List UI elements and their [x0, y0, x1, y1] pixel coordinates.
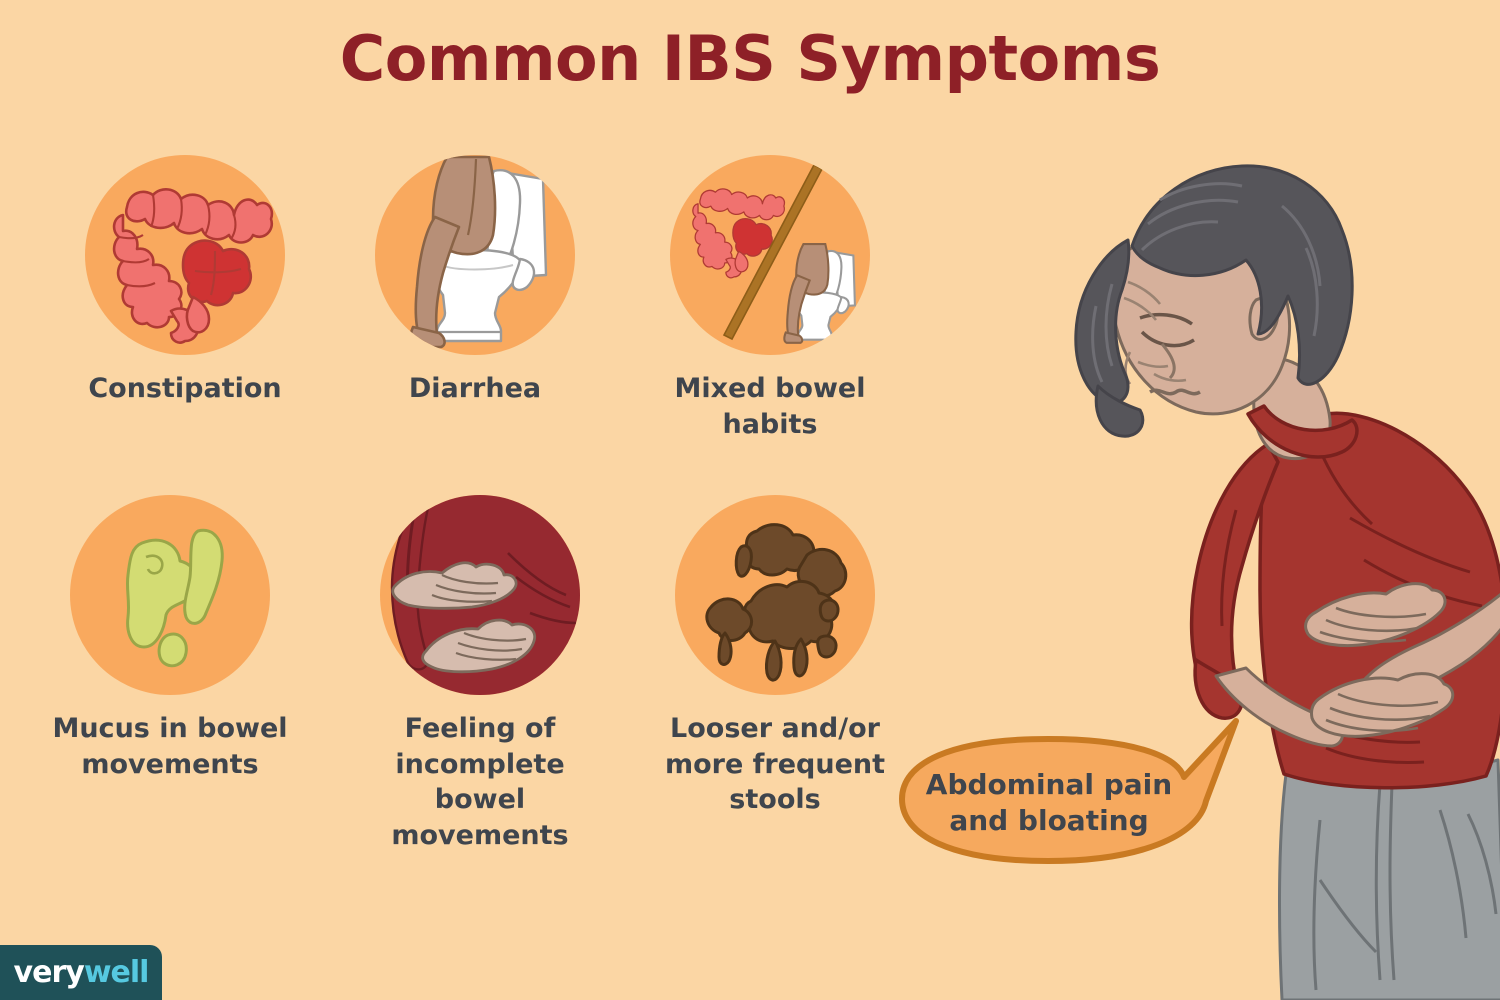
page-title: Common IBS Symptoms: [0, 22, 1500, 95]
symptom-icon-circle: [375, 155, 575, 355]
symptom-diarrhea: Diarrhea: [355, 155, 595, 407]
symptom-label: Diarrhea: [355, 371, 595, 407]
speech-bubble-text: Abdominal pain and bloating: [904, 767, 1194, 839]
hands-on-abdomen-icon: [380, 495, 580, 695]
symptom-icon-circle: [675, 495, 875, 695]
person-on-toilet-icon: [375, 155, 575, 355]
infographic-canvas: Common IBS Symptoms: [0, 0, 1500, 1000]
colon-and-toilet-split-icon: [670, 155, 870, 355]
symptom-label: Constipation: [65, 371, 305, 407]
speech-bubble: Abdominal pain and bloating: [880, 715, 1310, 890]
mucus-blobs-icon: [70, 495, 270, 695]
symptom-icon-circle: [70, 495, 270, 695]
loose-stool-icon: [675, 495, 875, 695]
symptom-label: Looser and/or more frequent stools: [655, 711, 895, 818]
logo-text-well: well: [84, 955, 149, 990]
symptom-looser-stools: Looser and/or more frequent stools: [655, 495, 895, 818]
symptom-label: Mixed bowel habits: [650, 371, 890, 442]
symptom-constipation: Constipation: [65, 155, 305, 407]
symptom-icon-circle: [670, 155, 870, 355]
colon-icon: [85, 155, 285, 355]
symptom-label: Mucus in bowel movements: [50, 711, 290, 782]
symptom-icon-circle: [380, 495, 580, 695]
logo-text-very: very: [14, 955, 84, 990]
verywell-logo[interactable]: verywell: [0, 945, 162, 1000]
symptom-label: Feeling of incomplete bowel movements: [360, 711, 600, 854]
symptom-mucus: Mucus in bowel movements: [50, 495, 290, 782]
symptom-mixed-bowel-habits: Mixed bowel habits: [650, 155, 890, 442]
symptom-icon-circle: [85, 155, 285, 355]
symptom-incomplete-bowel-movements: Feeling of incomplete bowel movements: [360, 495, 600, 854]
